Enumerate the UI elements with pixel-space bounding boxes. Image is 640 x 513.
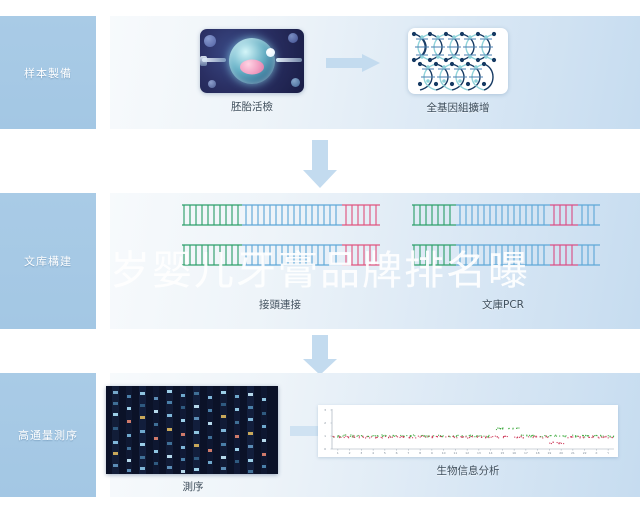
svg-text:2: 2: [324, 421, 326, 425]
decor-blob: [204, 35, 216, 47]
decor-blob: [288, 33, 298, 43]
svg-text:3: 3: [324, 408, 326, 412]
step-panel-bioinformatics: 0123 12345678910111213141516171819202122…: [318, 405, 618, 457]
flowcell-image-icon: [106, 386, 278, 474]
svg-text:1: 1: [337, 451, 339, 455]
stage-label-2-text: 文库構建: [24, 253, 72, 269]
step-caption-library-pcr: 文庫PCR: [438, 297, 568, 312]
svg-text:Y: Y: [607, 451, 609, 455]
svg-text:15: 15: [500, 451, 504, 455]
svg-text:6: 6: [396, 451, 398, 455]
svg-text:18: 18: [536, 451, 540, 455]
dna-ladder-adapter-icon: [180, 199, 380, 273]
row-content-2: 接頭連接: [110, 193, 640, 329]
flowcell-svg: [106, 386, 278, 474]
dna-ladder-pcr-icon: [410, 199, 600, 273]
step-panel-sequencing: 測序: [106, 386, 278, 474]
step-caption-bioinformatics: 生物信息分析: [398, 463, 538, 478]
biopsy-needle-icon: [276, 58, 302, 62]
svg-text:16: 16: [512, 451, 516, 455]
pipette-tip-icon: [200, 56, 207, 66]
stage-row-1: 样本製備 胚胎活檢: [0, 16, 640, 129]
step-panel-library-pcr: 文庫PCR: [410, 199, 600, 277]
stage-label-2: 文库構建: [0, 193, 96, 329]
step-panel-wga: 全基因組擴增: [408, 28, 508, 94]
cnv-chart-svg: 0123 12345678910111213141516171819202122…: [318, 405, 618, 457]
svg-text:13: 13: [477, 451, 481, 455]
svg-text:20: 20: [559, 451, 563, 455]
stage-label-3: 高通量測序: [0, 373, 96, 497]
svg-text:14: 14: [489, 451, 493, 455]
inner-cell-mass: [240, 60, 264, 75]
step-caption-wga: 全基因組擴增: [392, 100, 524, 115]
svg-text:4: 4: [372, 451, 374, 455]
svg-text:9: 9: [431, 451, 433, 455]
arrow-down-icon-1: [303, 140, 337, 188]
vacuole: [266, 48, 275, 57]
svg-text:12: 12: [465, 451, 469, 455]
step-panel-embryo-biopsy: 胚胎活檢: [200, 29, 304, 93]
svg-text:11: 11: [453, 451, 457, 455]
step-caption-embryo-biopsy: 胚胎活檢: [200, 99, 304, 114]
arrow-right-icon-row1: [326, 54, 380, 72]
cnv-chart-icon: 0123 12345678910111213141516171819202122…: [318, 405, 618, 457]
step-caption-adapter-ligation: 接頭連接: [210, 297, 350, 312]
stage-label-1-text: 样本製備: [24, 65, 72, 81]
stage-row-3: 高通量測序: [0, 373, 640, 497]
svg-text:17: 17: [524, 451, 528, 455]
arrow-down-icon-2: [303, 335, 337, 375]
decor-blob: [208, 80, 216, 88]
dna-helix-svg: [408, 28, 508, 94]
svg-text:0: 0: [324, 447, 326, 451]
step-panel-adapter-ligation: 接頭連接: [180, 199, 380, 277]
svg-text:19: 19: [547, 451, 551, 455]
stage-label-3-text: 高通量測序: [18, 427, 78, 443]
svg-text:1: 1: [324, 434, 326, 438]
infographic-root: 样本製備 胚胎活檢: [0, 0, 640, 513]
svg-text:22: 22: [583, 451, 587, 455]
stage-row-2: 文库構建: [0, 193, 640, 329]
row-content-1: 胚胎活檢: [110, 16, 640, 129]
svg-text:3: 3: [360, 451, 362, 455]
svg-text:10: 10: [442, 451, 446, 455]
svg-text:21: 21: [571, 451, 575, 455]
stage-label-1: 样本製備: [0, 16, 96, 129]
embryo-biopsy-icon: [200, 29, 304, 93]
svg-text:8: 8: [419, 451, 421, 455]
decor-blob: [291, 78, 300, 87]
svg-text:7: 7: [407, 451, 409, 455]
step-caption-sequencing: 測序: [158, 479, 228, 494]
row-content-3: 測序 0123 12345678910111213141516171: [110, 373, 640, 497]
dna-helix-icon: [408, 28, 508, 94]
svg-text:5: 5: [384, 451, 386, 455]
svg-text:X: X: [595, 451, 597, 455]
svg-text:2: 2: [349, 451, 351, 455]
